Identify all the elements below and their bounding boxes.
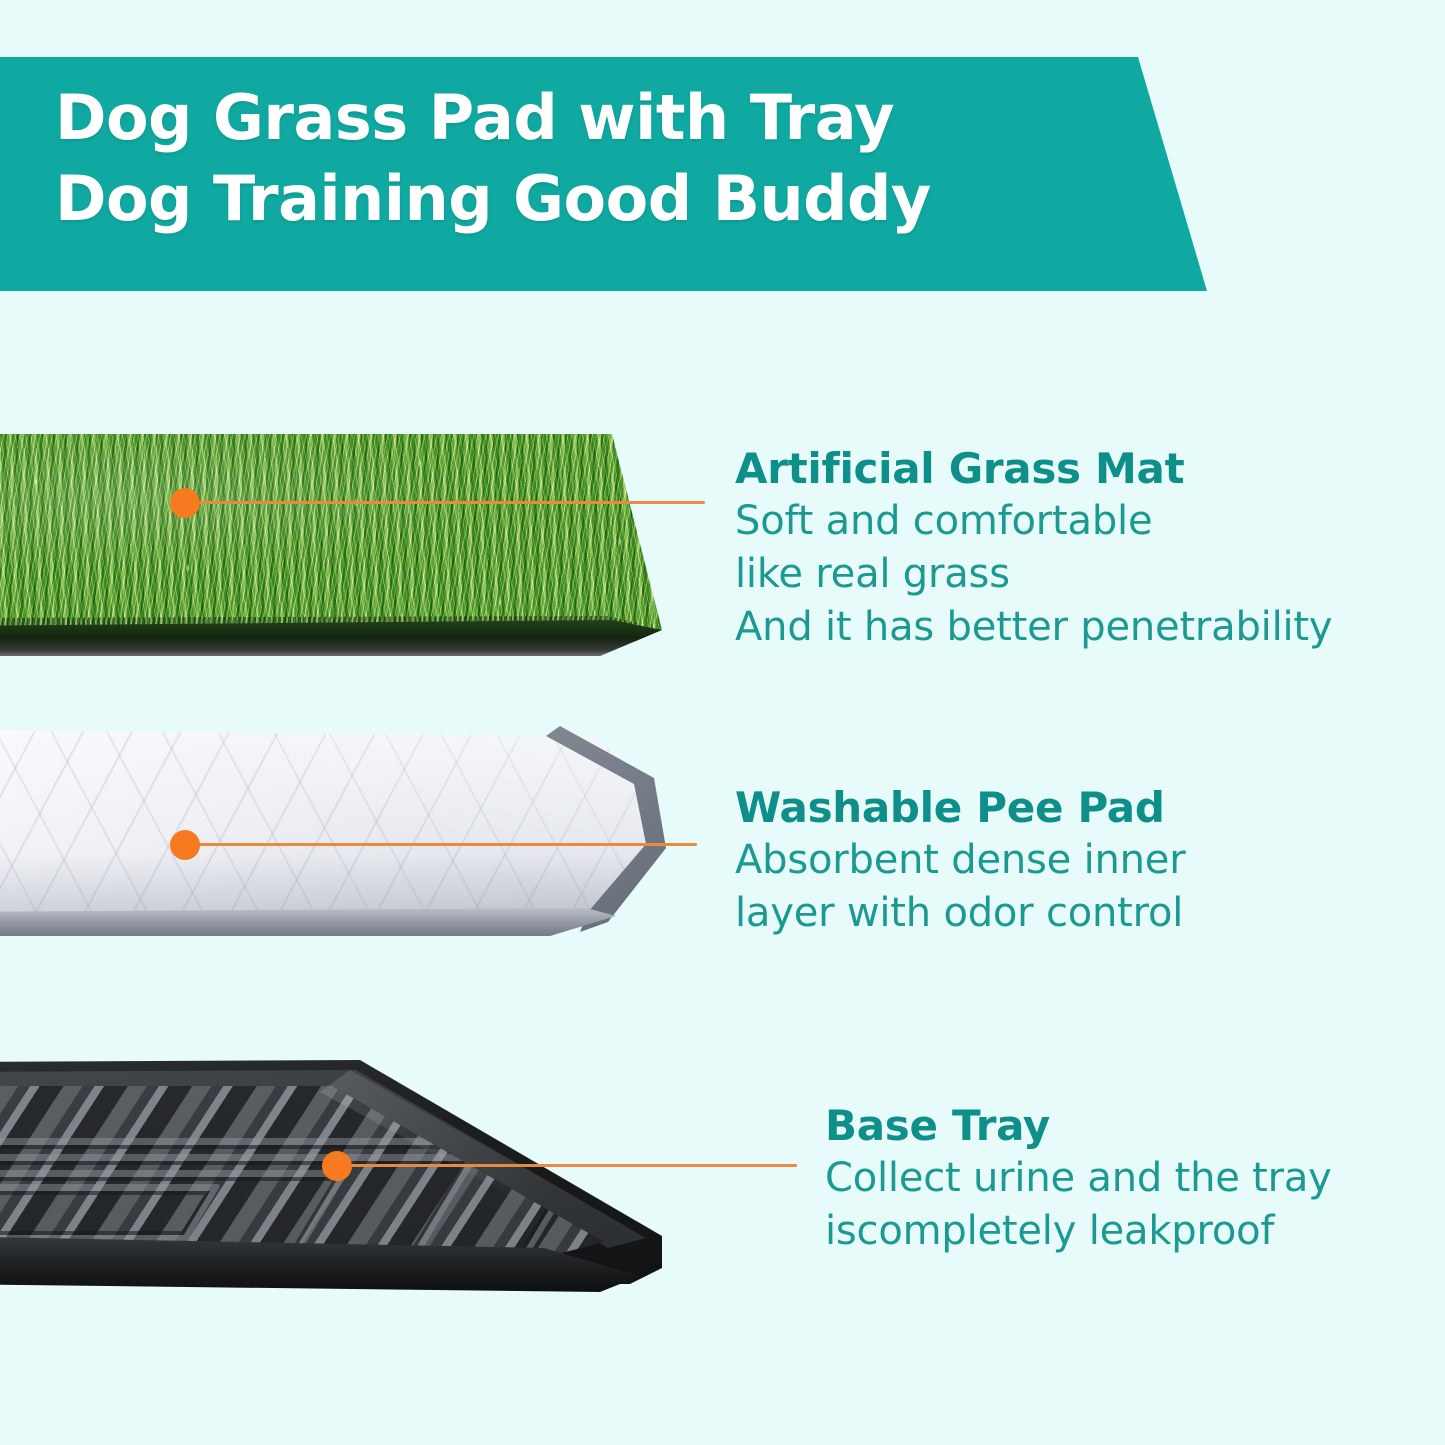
banner-title-line-2: Dog Training Good Buddy bbox=[55, 158, 1135, 239]
product-infographic: Dog Grass Pad with Tray Dog Training Goo… bbox=[0, 0, 1445, 1445]
feature-line-grass-mat-3: And it has better penetrability bbox=[735, 601, 1332, 654]
callout-dot-grass-mat bbox=[170, 488, 200, 518]
feature-title-base-tray: Base Tray bbox=[825, 1100, 1332, 1152]
tray-groove-ring-4 bbox=[0, 1184, 221, 1242]
feature-line-grass-mat-1: Soft and comfortable bbox=[735, 495, 1332, 548]
pee-pad-front-edge bbox=[0, 908, 640, 940]
callout-dot-pee-pad bbox=[170, 830, 200, 860]
artificial-grass-mat-image bbox=[0, 424, 740, 686]
feature-title-pee-pad: Washable Pee Pad bbox=[735, 782, 1185, 834]
callout-leader-line-pee-pad bbox=[185, 843, 697, 846]
feature-line-pee-pad-1: Absorbent dense inner bbox=[735, 834, 1185, 887]
header-banner-text: Dog Grass Pad with Tray Dog Training Goo… bbox=[55, 77, 1135, 239]
feature-title-grass-mat: Artificial Grass Mat bbox=[735, 443, 1332, 495]
washable-pee-pad-image bbox=[0, 712, 740, 972]
feature-line-base-tray-1: Collect urine and the tray bbox=[825, 1152, 1332, 1205]
grass-backing-edge bbox=[0, 620, 662, 660]
feature-block-grass-mat: Artificial Grass Mat Soft and comfortabl… bbox=[735, 443, 1332, 654]
callout-leader-line-base-tray bbox=[337, 1164, 797, 1167]
banner-title-line-1: Dog Grass Pad with Tray bbox=[55, 77, 1135, 158]
feature-line-pee-pad-2: layer with odor control bbox=[735, 887, 1185, 940]
callout-leader-line-grass-mat bbox=[185, 501, 705, 504]
feature-line-grass-mat-2: like real grass bbox=[735, 548, 1332, 601]
feature-line-base-tray-2: iscompletely leakproof bbox=[825, 1205, 1332, 1258]
base-tray-image bbox=[0, 1030, 770, 1310]
feature-block-base-tray: Base Tray Collect urine and the tray isc… bbox=[825, 1100, 1332, 1258]
feature-block-pee-pad: Washable Pee Pad Absorbent dense inner l… bbox=[735, 782, 1185, 940]
callout-dot-base-tray bbox=[322, 1151, 352, 1181]
